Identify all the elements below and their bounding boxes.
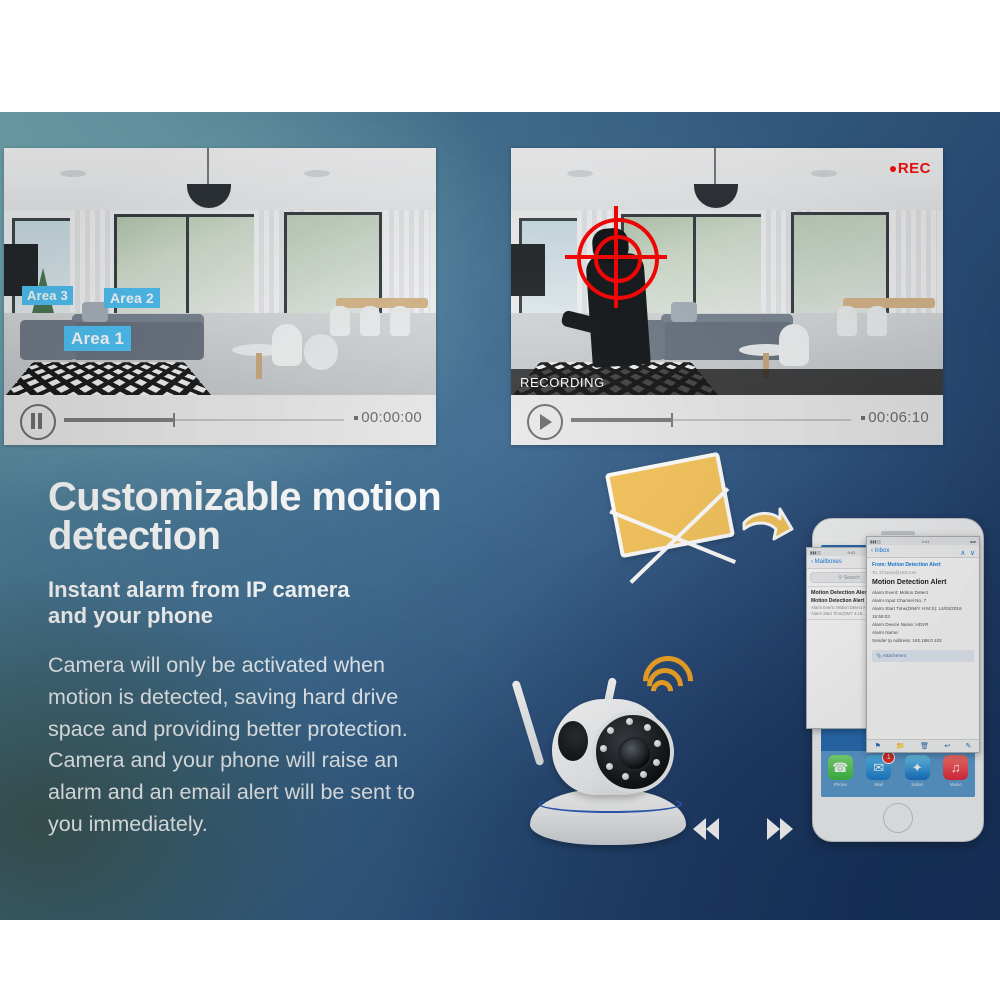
search-icon: ⚲ [838, 575, 842, 581]
subheadline: Instant alarm from IP camera and your ph… [48, 577, 518, 629]
mail-icon[interactable]: ✉ 1 [866, 755, 891, 780]
headline-line-1: Customizable motion [48, 478, 518, 517]
ir-led-8 [600, 745, 607, 752]
video-player-left[interactable]: Area 3 Area 2 Area 1 00:00:00 [4, 148, 436, 445]
video-screen-right[interactable]: REC RECORDING [511, 148, 943, 395]
attachment-label: Attachment [883, 653, 906, 658]
carrier-signal: ▮▮▮▯▯ [810, 550, 821, 555]
rec-indicator: REC [890, 160, 931, 177]
lamp-shade [187, 184, 231, 208]
paperclip-icon: 📎 [876, 653, 882, 658]
wifi-signal-icon [645, 650, 701, 696]
alarm-field-2: Alarm Start Time(D/M/Y H:M:S): 14/02/201… [872, 605, 974, 621]
back-to-mailboxes-link[interactable]: ‹ Mailboxes [811, 559, 842, 565]
dining-chair-a [330, 306, 350, 336]
rec-dot-icon [890, 166, 896, 172]
dock-app-music[interactable]: ♫ Music [943, 755, 968, 787]
rewind-icon-a [693, 818, 706, 840]
face-detection-reticle [577, 218, 659, 300]
camera-side-port [558, 721, 588, 761]
flag-icon[interactable]: ⚑ [875, 742, 881, 750]
ir-led-6 [622, 773, 629, 780]
wifi-arc-2 [640, 661, 691, 712]
message-nav-chevrons[interactable]: ∧ ∨ [960, 542, 975, 560]
lamp-cord [714, 148, 716, 186]
window-right [791, 212, 889, 334]
pointer-arrow-right [923, 545, 969, 591]
antenna-right [591, 677, 617, 765]
phone-home-screen[interactable]: ☎ Phone ✉ 1 Mail ✦ Safari [821, 545, 975, 797]
message-header: From: Motion Detection Alert To: 271xxxx… [867, 558, 979, 577]
message-subject-heading: Motion Detection Alert [867, 577, 979, 589]
mail-toolbar[interactable]: ⚑ 📁 🗑 ↩ ✎ [867, 739, 979, 752]
mail-badge: 1 [882, 751, 895, 764]
tv-panel [4, 244, 38, 296]
play-button[interactable] [527, 404, 563, 440]
floor [511, 313, 943, 395]
alarm-field-3: Alarm Device Name: HDVR [872, 621, 974, 629]
area-tag-1[interactable]: Area 1 [64, 326, 131, 351]
dining-chair-a [837, 306, 857, 336]
ip-camera-product-image [508, 655, 708, 845]
curtain-a [70, 210, 112, 342]
player-controls-right[interactable]: 00:06:10 [511, 395, 943, 445]
seek-fill-left [64, 418, 173, 422]
ceiling [4, 148, 436, 210]
living-room-scene [4, 148, 436, 395]
timecode-right: 00:06:10 [861, 409, 929, 426]
smartphone-device[interactable]: ☎ Phone ✉ 1 Mail ✦ Safari [812, 518, 984, 842]
back-wall [4, 210, 436, 315]
message-sender: Motion Detection Alert [811, 590, 887, 596]
coffee-table [739, 344, 793, 356]
body-copy: Camera will only be activated when motio… [48, 650, 448, 841]
ir-led-7 [606, 763, 613, 770]
compose-icon[interactable]: ✎ [965, 742, 971, 750]
battery-indicator: ▰▰ [882, 550, 888, 555]
seek-track-right[interactable] [571, 419, 851, 421]
carousel-next-button[interactable] [767, 818, 793, 840]
rewind-icon-b [706, 818, 719, 840]
antenna-left [511, 680, 544, 766]
app-dock[interactable]: ☎ Phone ✉ 1 Mail ✦ Safari [821, 751, 975, 797]
rec-label: REC [898, 160, 931, 177]
sectional-sofa [72, 314, 204, 360]
message-subject: Motion Detection Alert [811, 598, 887, 604]
alarm-field-1: Alarm Input Channel No. 7 [872, 597, 974, 605]
wifi-arc-1 [646, 675, 677, 706]
ir-led-9 [607, 727, 614, 734]
status-time: 9:41 [922, 539, 930, 544]
pause-icon [31, 413, 35, 429]
video-screen-left[interactable]: Area 3 Area 2 Area 1 [4, 148, 436, 395]
inbox-nav-bar[interactable]: ‹ Mailboxes Inbox [807, 556, 891, 569]
attachment-row[interactable]: 📎 Attachment [872, 650, 974, 662]
camera-lens-housing [592, 711, 674, 793]
ir-led-3 [654, 740, 661, 747]
safari-icon[interactable]: ✦ [905, 755, 930, 780]
battery-indicator: ▰▰ [970, 539, 976, 544]
alarm-field-0: Alarm Event: Motion Detect [872, 589, 974, 597]
subheadline-line-1: Instant alarm from IP camera [48, 577, 518, 603]
message-preview: Alarm Event: Motion Detect Alarm No. 7 A… [811, 605, 887, 616]
timecode-left: 00:00:00 [354, 409, 422, 426]
player-controls-left[interactable]: 00:00:00 [4, 395, 436, 445]
detail-nav-bar[interactable]: ‹ Inbox ∧ ∨ [867, 545, 979, 558]
dining-table [843, 298, 935, 308]
status-time: 9:41 [848, 550, 856, 555]
ir-led-5 [640, 771, 647, 778]
seek-handle-left[interactable] [173, 413, 175, 427]
seek-handle-right[interactable] [671, 413, 673, 427]
pointer-arrow-left [829, 545, 875, 591]
home-button[interactable] [883, 803, 913, 833]
lamp-shade [694, 184, 738, 208]
accent-chair-a [272, 324, 302, 366]
accent-chair-a [779, 324, 809, 366]
area-tag-2[interactable]: Area 2 [104, 288, 160, 308]
promo-banner-page: Area 3 Area 2 Area 1 00:00:00 [0, 0, 1000, 1000]
lamp-cord [207, 148, 209, 186]
camera-head [552, 699, 668, 795]
message-from: From: Motion Detection Alert [872, 562, 974, 568]
dock-label-mail: Mail [866, 782, 891, 787]
ir-led-2 [644, 724, 651, 731]
forward-icon-a [767, 818, 780, 840]
wifi-arc-3 [633, 646, 704, 717]
accent-chair-b [304, 334, 338, 370]
window-right [284, 212, 382, 334]
dining-chair-b [867, 306, 887, 336]
sectional-sofa [661, 314, 793, 360]
back-wall [511, 210, 943, 315]
flow-arrow-icon [740, 505, 794, 549]
subheadline-line-2: and your phone [48, 603, 518, 629]
music-icon[interactable]: ♫ [943, 755, 968, 780]
ir-led-4 [653, 759, 660, 766]
folder-icon[interactable]: 📁 [896, 742, 905, 750]
reticle-inner-ring [594, 235, 642, 283]
chevron-down-icon[interactable]: ∨ [970, 550, 975, 557]
search-placeholder: Search [844, 575, 860, 581]
message-to: To: 271xxxx@163.com [872, 570, 974, 575]
dock-label-phone: Phone [828, 782, 853, 787]
dock-label-music: Music [943, 782, 968, 787]
dining-chair-c [390, 306, 410, 336]
camera-base [530, 789, 686, 845]
living-room-scene-intruder [511, 148, 943, 395]
message-body: Alarm Event: Motion Detect Alarm Input C… [867, 589, 979, 645]
curtain-b [761, 210, 815, 342]
alarm-field-4: Alarm Name: [872, 629, 974, 637]
seek-fill-right [571, 418, 671, 422]
carousel-prev-button[interactable] [693, 818, 719, 840]
curtain-c [891, 210, 937, 342]
patterned-rug [513, 362, 718, 395]
floor [4, 313, 436, 395]
camera-lens [618, 737, 652, 771]
carousel-controls[interactable] [693, 818, 793, 842]
dining-chair-b [360, 306, 380, 336]
headline-line-2: detection [48, 517, 518, 556]
mail-inbox-screen[interactable]: ▮▮▮▯▯ 9:41 ▰▰ ‹ Mailboxes Inbox ⚲ Search… [806, 547, 892, 729]
patterned-rug [6, 362, 211, 395]
alarm-field-5: Sender Ip Address: 192.168.0.102 [872, 637, 974, 645]
dock-app-safari[interactable]: ✦ Safari [905, 755, 930, 787]
earpiece-speaker [881, 531, 915, 535]
dock-app-phone[interactable]: ☎ Phone [828, 755, 853, 787]
intruder-figure [585, 252, 651, 368]
video-player-right[interactable]: REC RECORDING 00:06:10 [511, 148, 943, 445]
reply-icon[interactable]: ↩ [944, 742, 950, 750]
status-bar: ▮▮▮▯▯ 9:41 ▰▰ [807, 548, 891, 556]
area-tag-3[interactable]: Area 3 [22, 286, 73, 305]
curtain-a [577, 210, 619, 342]
ir-led-1 [626, 718, 633, 725]
recording-status-banner: RECORDING [511, 369, 943, 395]
curtain-b [254, 210, 308, 342]
window-left [12, 218, 76, 320]
carrier-signal: ▮▮▮▯▯ [870, 539, 881, 544]
dock-app-mail[interactable]: ✉ 1 Mail [866, 755, 891, 787]
search-input[interactable]: ⚲ Search [810, 572, 888, 583]
chevron-up-icon[interactable]: ∧ [960, 550, 965, 557]
inbox-title: Inbox [871, 559, 887, 565]
window-center [621, 214, 765, 332]
curtain-c [384, 210, 430, 342]
dock-label-safari: Safari [905, 782, 930, 787]
camera-blue-ring [538, 795, 682, 813]
banner-background: Area 3 Area 2 Area 1 00:00:00 [0, 112, 1000, 920]
play-icon [540, 414, 552, 430]
timecode-dot [861, 416, 865, 420]
mail-detail-screen[interactable]: ▮▮▮▯▯ 9:41 ▰▰ ‹ Inbox ∧ ∨ From: Motion D… [866, 536, 980, 753]
coffee-table [232, 344, 286, 356]
status-bar: ▮▮▮▯▯ 9:41 ▰▰ [867, 537, 979, 545]
forward-icon-b [780, 818, 793, 840]
trash-icon[interactable]: 🗑 [920, 742, 929, 750]
back-to-inbox-link[interactable]: ‹ Inbox [871, 548, 889, 554]
page-title: Customizable motion detection [48, 478, 518, 556]
seek-track-left[interactable] [64, 419, 344, 421]
pause-button[interactable] [20, 404, 56, 440]
list-item[interactable]: Motion Detection Alert Motion Detection … [807, 586, 891, 620]
window-left [519, 218, 583, 320]
timecode-right-value: 00:06:10 [868, 409, 929, 426]
timecode-left-value: 00:00:00 [361, 409, 422, 426]
email-envelope-icon [605, 452, 735, 559]
window-center [114, 214, 258, 332]
tv-panel [511, 244, 545, 296]
dining-table [336, 298, 428, 308]
ceiling [511, 148, 943, 210]
timecode-dot [354, 416, 358, 420]
phone-icon[interactable]: ☎ [828, 755, 853, 780]
christmas-tree [28, 268, 58, 330]
